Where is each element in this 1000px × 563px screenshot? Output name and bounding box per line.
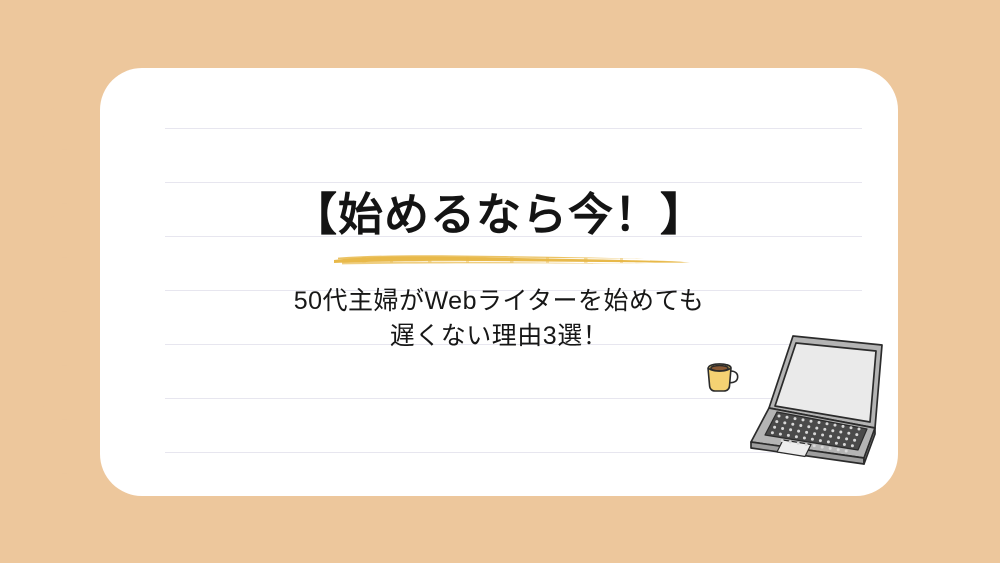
binding-hole-dot [42,430,86,474]
brush-underline-icon [332,253,692,266]
binding-hole [0,430,86,474]
binding-hole [0,268,86,312]
binding-hole [0,322,86,366]
binding-hole-dot [42,106,86,150]
laptop-icon [751,336,882,464]
binding-hole-dot [42,376,86,420]
binding-hole [0,214,86,258]
binding-hole-dot [42,160,86,204]
laptop-and-coffee-illustration [665,330,900,495]
coffee-mug-icon [708,364,738,391]
binding-hole-dot [42,322,86,366]
binding-hole-dot [42,214,86,258]
binding-hole [0,376,86,420]
binding-hole [0,106,86,150]
binding-holes-group [0,0,100,563]
subtitle-line-1: 50代主婦がWebライターを始めても [100,284,898,319]
page-title: 【始めるなら今！】 [100,192,898,237]
binding-hole [0,160,86,204]
binding-hole-dot [42,268,86,312]
poster-canvas: 【始めるなら今！】 50代主婦がWebライターを始めても 遅くない理由3選！ [0,0,1000,563]
